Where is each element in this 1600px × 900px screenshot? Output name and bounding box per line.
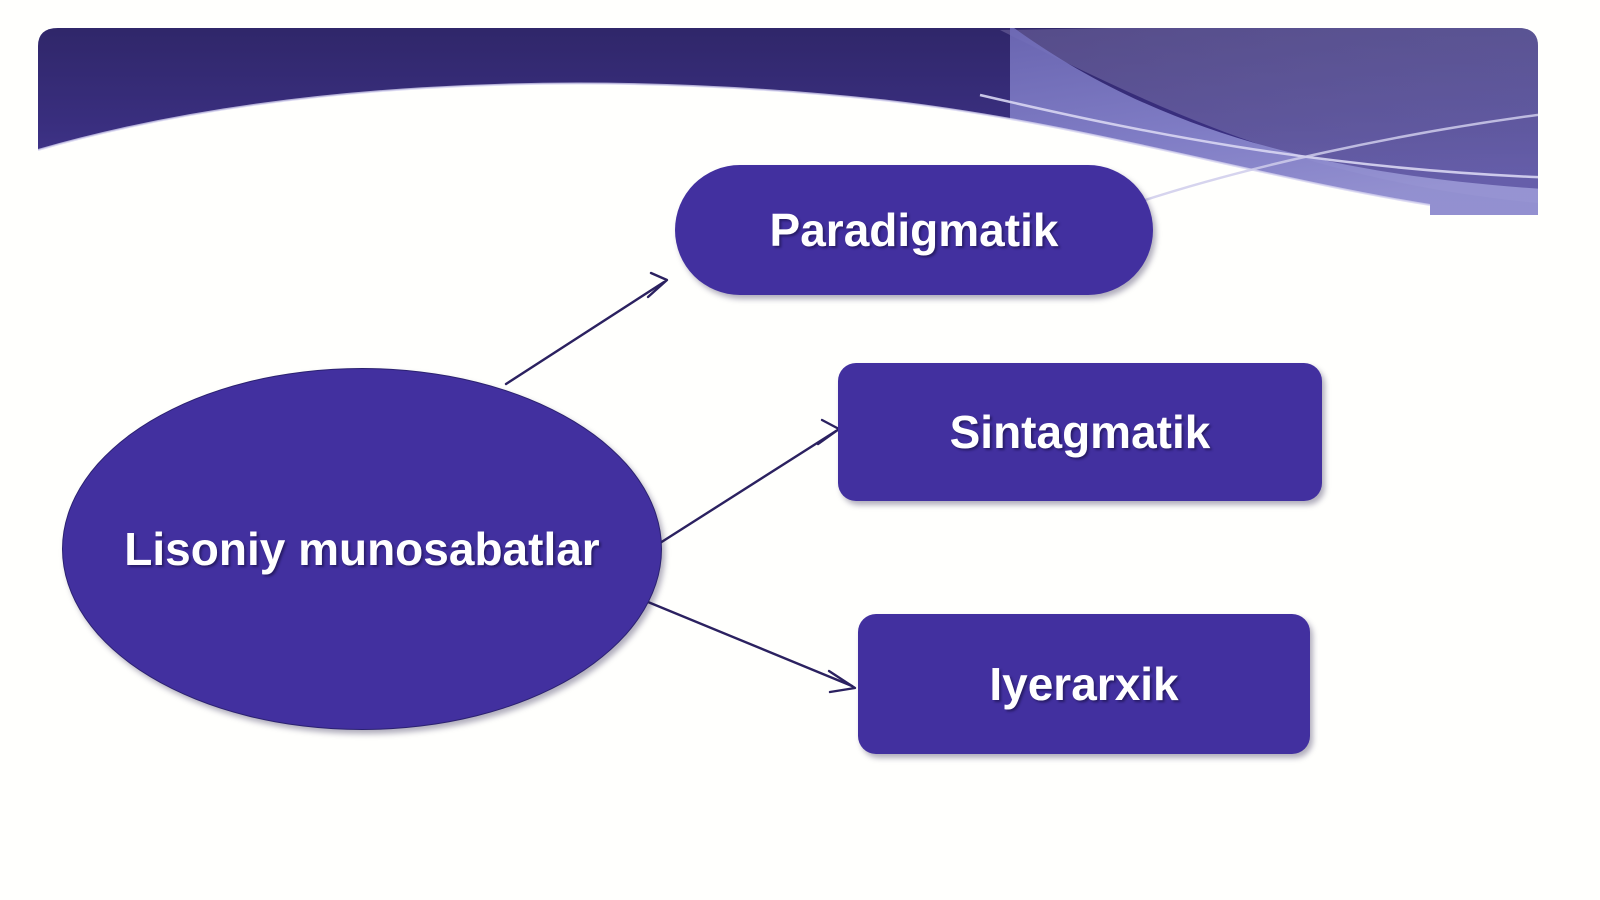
branch-node-sintagmatik[interactable]: Sintagmatik xyxy=(838,363,1322,501)
branch-node-sintagmatik-label: Sintagmatik xyxy=(838,405,1322,459)
center-node-label: Lisoniy munosabatlar xyxy=(119,518,605,580)
arrow-center-to-iyerarxik-line xyxy=(648,602,852,686)
branch-node-paradigmatik[interactable]: Paradigmatik xyxy=(675,165,1153,295)
arrow-center-to-iyerarxik-head xyxy=(829,671,855,692)
slide-canvas: Lisoniy munosabatlar Paradigmatik Sintag… xyxy=(0,0,1600,900)
branch-node-paradigmatik-label: Paradigmatik xyxy=(675,203,1153,257)
arrow-center-to-sintagmatik-line xyxy=(660,431,836,543)
arrow-center-to-paradigmatik-head xyxy=(648,273,667,297)
branch-node-iyerarxik-label: Iyerarxik xyxy=(858,657,1310,711)
arrow-center-to-sintagmatik-head xyxy=(818,420,839,444)
branch-node-iyerarxik[interactable]: Iyerarxik xyxy=(858,614,1310,754)
center-node-lisoniy-munosabatlar[interactable]: Lisoniy munosabatlar xyxy=(62,368,662,730)
arrow-center-to-paradigmatik-line xyxy=(506,282,664,384)
